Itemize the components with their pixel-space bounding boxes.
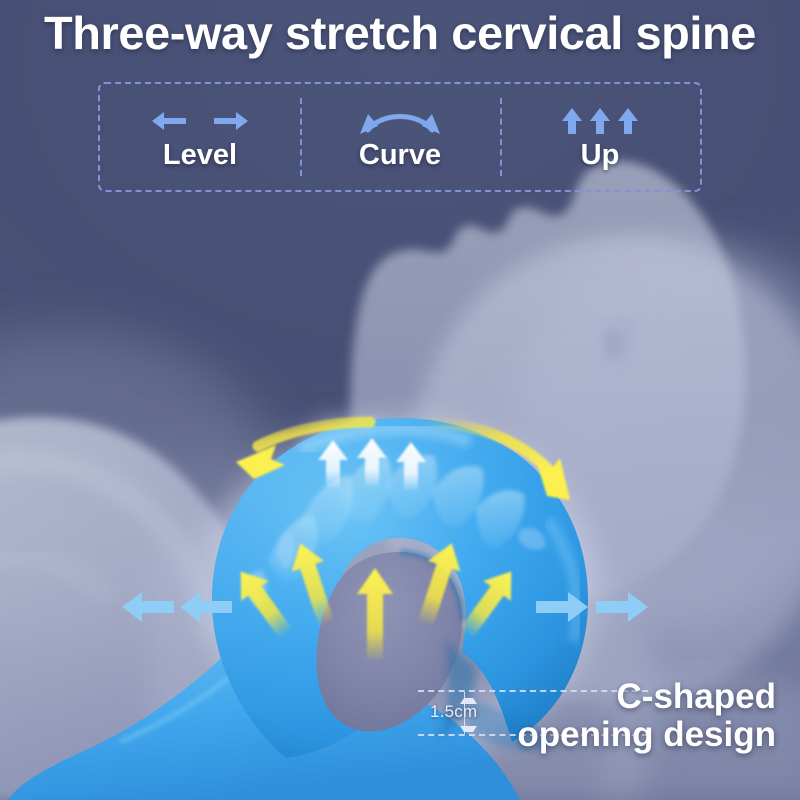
feature-cell-curve[interactable]: Curve — [300, 84, 500, 190]
dimension-arrow-down-icon — [460, 726, 477, 738]
feature-cell-level[interactable]: Level — [100, 84, 300, 190]
feature-label-up: Up — [581, 141, 620, 170]
arc-double-arrow-icon — [352, 105, 448, 137]
three-up-arrows-icon — [558, 105, 642, 137]
caption-line-2: opening design — [517, 716, 776, 754]
feature-cell-up[interactable]: Up — [500, 84, 700, 190]
caption-line-1: C-shaped — [517, 678, 776, 716]
feature-label-curve: Curve — [359, 141, 441, 170]
product-infographic: Three-way stretch cervical spine Level — [0, 0, 800, 800]
dimension-label: 1.5cm — [430, 702, 477, 722]
feature-label-level: Level — [163, 141, 237, 170]
feature-badge-box: Level Curve — [98, 82, 702, 192]
caption-c-shaped-opening: C-shaped opening design — [517, 678, 776, 754]
arrows-left-right-icon — [152, 105, 248, 137]
page-title: Three-way stretch cervical spine — [0, 6, 800, 60]
